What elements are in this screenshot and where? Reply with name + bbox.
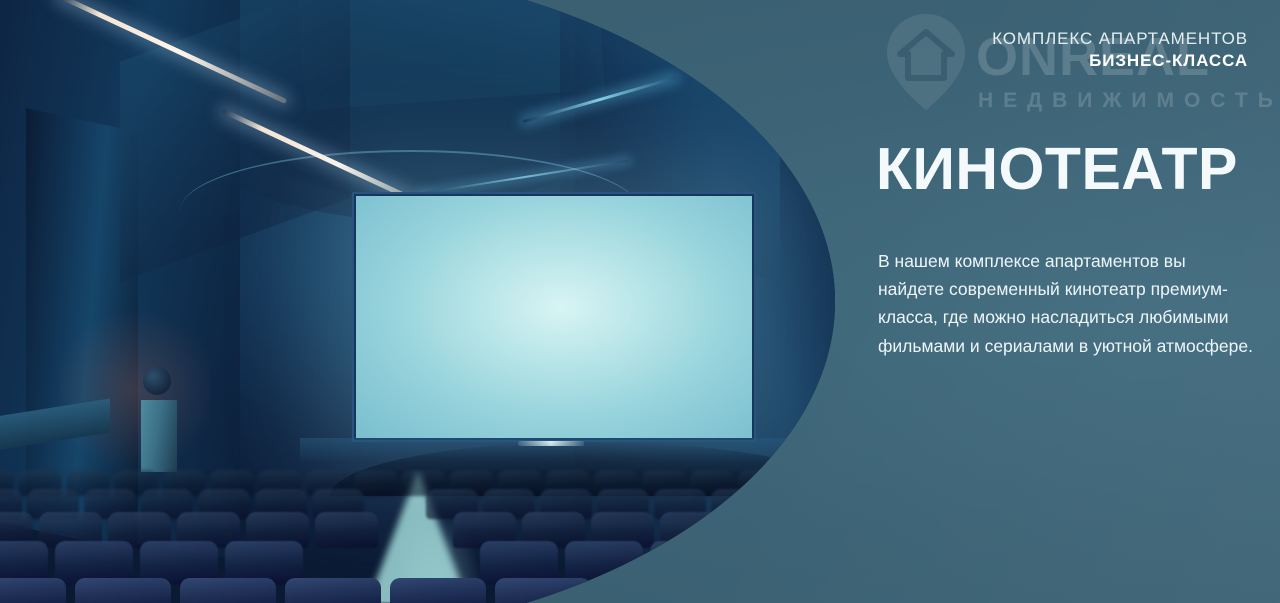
cinema-photo — [0, 0, 835, 603]
cinema-screen — [352, 192, 756, 442]
description-text: В нашем комплексе апартаментов вы найдет… — [878, 247, 1256, 360]
cinema-seat — [705, 578, 801, 603]
page-title: КИНОТЕАТР — [876, 140, 1238, 199]
cinema-seat — [495, 578, 591, 603]
pedestal-column — [141, 400, 177, 472]
cinema-seat — [810, 578, 835, 603]
pedestal-sphere — [143, 367, 171, 395]
warm-accent-glow-left — [60, 300, 210, 480]
eyebrow: КОМПЛЕКС АПАРТАМЕНТОВ БИЗНЕС-КЛАССА — [992, 28, 1248, 73]
eyebrow-line-2: БИЗНЕС-КЛАССА — [992, 50, 1248, 72]
cinema-screen-surface — [356, 196, 752, 438]
cinema-photo-content — [0, 0, 835, 603]
cinema-seat — [390, 578, 486, 603]
cinema-seat — [75, 578, 171, 603]
cinema-seat — [0, 578, 66, 603]
seat-row — [0, 578, 835, 603]
promo-banner: ONREAL НЕДВИЖИМОСТЬ — [0, 0, 1280, 603]
cinema-seat — [180, 578, 276, 603]
cinema-seat — [285, 578, 381, 603]
cinema-seat — [600, 578, 696, 603]
eyebrow-line-1: КОМПЛЕКС АПАРТАМЕНТОВ — [992, 28, 1248, 50]
